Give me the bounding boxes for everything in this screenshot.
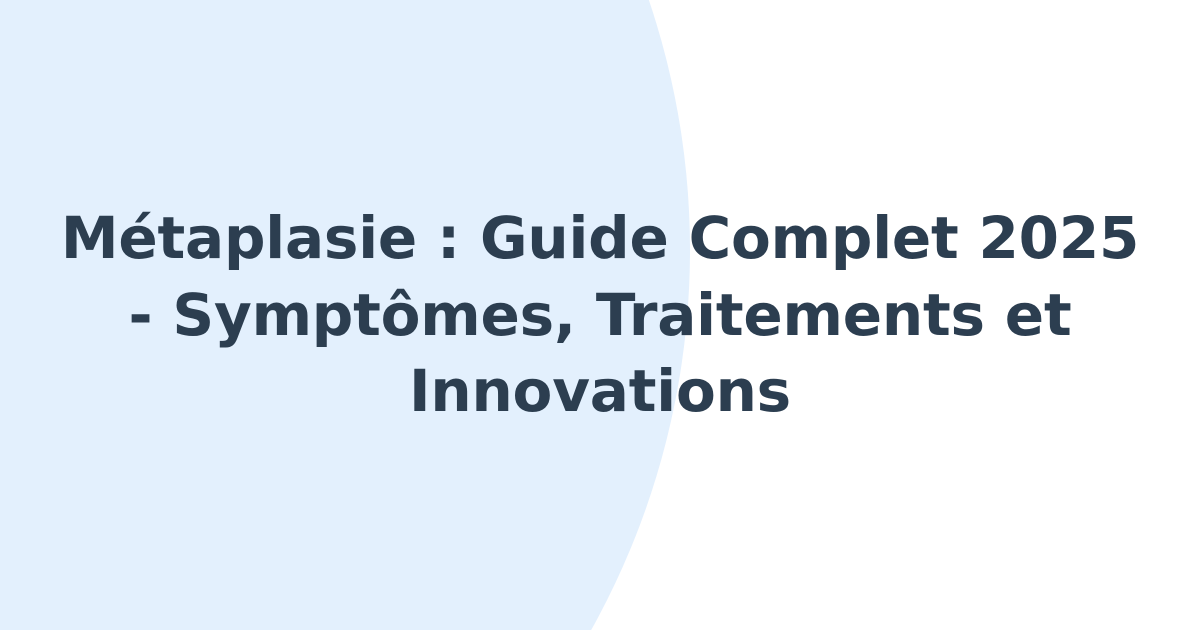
og-share-card: Métaplasie : Guide Complet 2025 - Symptô… bbox=[0, 0, 1200, 630]
card-content-area: Métaplasie : Guide Complet 2025 - Symptô… bbox=[0, 0, 1200, 630]
page-title: Métaplasie : Guide Complet 2025 - Symptô… bbox=[52, 200, 1148, 430]
